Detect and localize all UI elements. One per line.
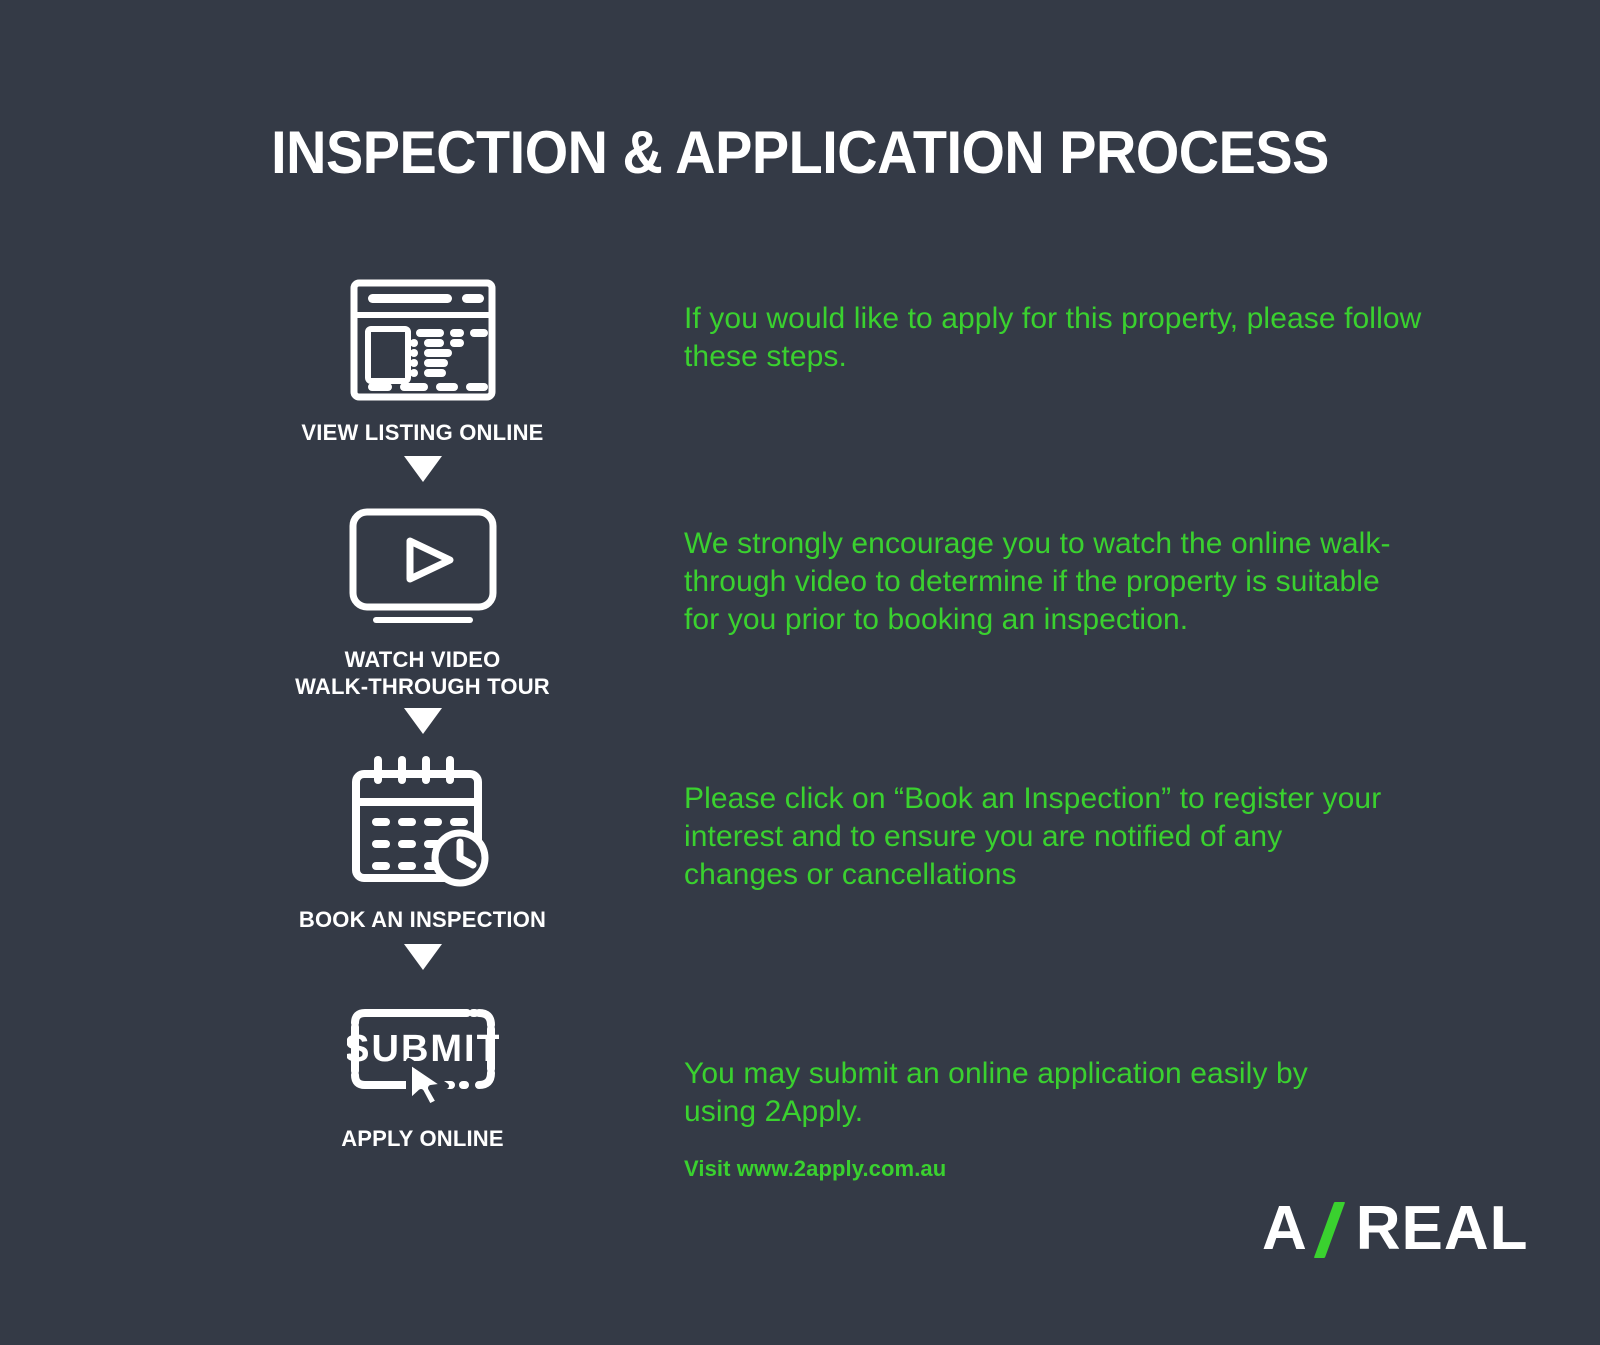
note-watch-video: We strongly encourage you to watch the o… xyxy=(684,525,1414,639)
step-label: VIEW LISTING ONLINE xyxy=(250,419,595,446)
page-title: INSPECTION & APPLICATION PROCESS xyxy=(56,118,1544,187)
logo-word-real: REAL xyxy=(1356,1198,1529,1260)
step-apply-online[interactable]: SUBMIT APPLY ONLINE xyxy=(250,981,595,1152)
visit-2apply-link[interactable]: Visit www.2apply.com.au xyxy=(684,1156,946,1182)
submit-button-cursor-icon: SUBMIT xyxy=(250,981,595,1121)
note-apply-intro: If you would like to apply for this prop… xyxy=(684,300,1444,376)
svg-text:SUBMIT: SUBMIT xyxy=(347,1028,499,1070)
listing-window-icon xyxy=(250,265,595,415)
logo-slash-icon xyxy=(1314,1200,1348,1258)
step-view-listing-online[interactable]: VIEW LISTING ONLINE xyxy=(250,265,595,446)
step-label: APPLY ONLINE xyxy=(250,1125,595,1152)
step-label: BOOK AN INSPECTION xyxy=(250,906,595,933)
step-watch-video[interactable]: WATCH VIDEO WALK-THROUGH TOUR xyxy=(250,492,595,700)
down-triangle-icon xyxy=(250,933,595,981)
areal-logo: A REAL xyxy=(1262,1196,1529,1262)
video-play-monitor-icon xyxy=(250,492,595,642)
note-apply-online: You may submit an online application eas… xyxy=(684,1055,1384,1131)
logo-letter-a: A xyxy=(1262,1198,1308,1260)
down-triangle-icon xyxy=(250,700,595,742)
process-steps: VIEW LISTING ONLINE WATCH VIDEO WALK-THR… xyxy=(250,265,595,1152)
step-label: WATCH VIDEO WALK-THROUGH TOUR xyxy=(250,646,595,700)
down-triangle-icon xyxy=(250,446,595,492)
calendar-clock-icon xyxy=(250,742,595,902)
note-book-inspection: Please click on “Book an Inspection” to … xyxy=(684,780,1389,894)
step-book-inspection[interactable]: BOOK AN INSPECTION xyxy=(250,742,595,933)
infographic-page: INSPECTION & APPLICATION PROCESS xyxy=(0,0,1600,1345)
